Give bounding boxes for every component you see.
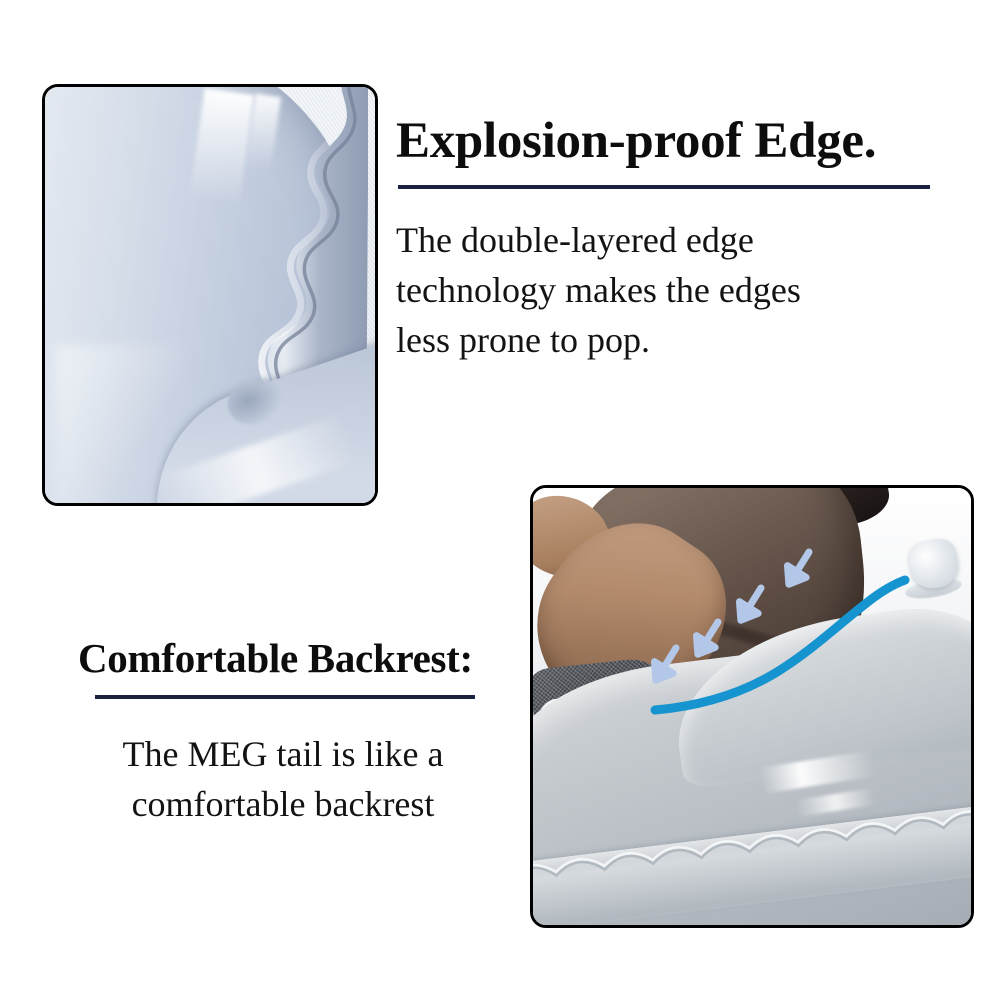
feature-body-line-3: less prone to pop. [396, 315, 956, 365]
heading-divider-rule [398, 185, 930, 189]
feature-heading: Comfortable Backrest: [78, 634, 488, 682]
feature-body-line-1: The MEG tail is like a [78, 729, 488, 779]
backrest-photo-panel [530, 485, 974, 928]
edge-closeup-photo [45, 87, 375, 503]
feature-text-comfortable-backrest: Comfortable Backrest: The MEG tail is li… [78, 634, 488, 829]
feature-body-line-2: comfortable backrest [78, 779, 488, 829]
edge-closeup-photo-panel [42, 84, 378, 506]
heading-divider-rule [95, 695, 475, 699]
feature-body-line-1: The double-layered edge [396, 215, 956, 265]
infographic-canvas: Explosion-proof Edge. The double-layered… [0, 0, 1000, 1000]
feature-heading: Explosion-proof Edge. [396, 112, 956, 170]
feature-body-line-2: technology makes the edges [396, 265, 956, 315]
feature-text-explosion-proof-edge: Explosion-proof Edge. The double-layered… [396, 112, 956, 365]
backrest-photo [533, 488, 971, 925]
